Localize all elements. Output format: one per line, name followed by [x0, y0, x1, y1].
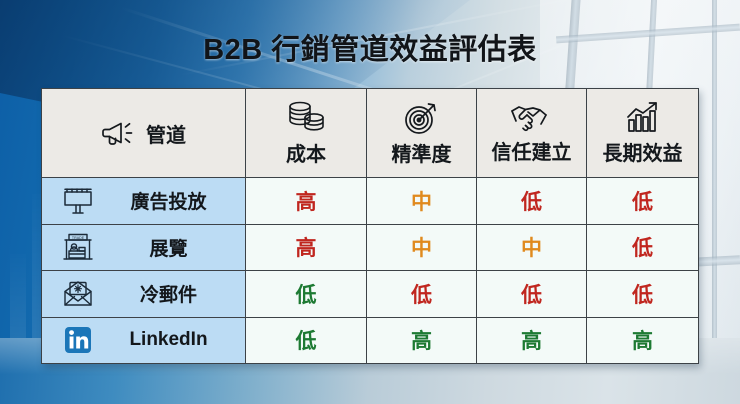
handshake-icon: [509, 102, 555, 134]
page-title: B2B 行銷管道效益評估表: [0, 26, 740, 68]
value-cell-precision: 高: [367, 317, 477, 364]
table-row: LinkedIn 低 高 高 高: [42, 317, 699, 364]
value-cell-cost: 低: [246, 271, 367, 318]
header-cell-precision: 精準度: [367, 89, 477, 178]
value-cell-longterm: 低: [587, 224, 699, 271]
target-icon: [403, 100, 441, 136]
value-cell-cost: 高: [246, 178, 367, 225]
header-label-longterm: 長期效益: [603, 137, 683, 166]
billboard-icon: [56, 186, 100, 216]
value-cell-precision: 低: [367, 271, 477, 318]
growth-chart-icon: [624, 101, 662, 135]
header-label-cost: 成本: [286, 138, 326, 167]
table-row: 冷郵件 低 低 低 低: [42, 271, 699, 318]
value-cell-trust: 低: [477, 271, 587, 318]
coins-icon: [285, 100, 327, 136]
header-label-precision: 精準度: [392, 138, 452, 167]
channel-cell-ads: 廣告投放: [42, 178, 246, 225]
channel-comparison-table: 管道: [41, 88, 699, 364]
channel-cell-tradeshow: TRADE 展覽: [42, 224, 246, 271]
channel-label: 展覽: [104, 234, 245, 261]
trade-booth-icon: TRADE: [56, 232, 100, 262]
linkedin-icon: [56, 325, 100, 355]
channel-cell-coldemail: 冷郵件: [42, 271, 246, 318]
header-cell-longterm: 長期效益: [587, 89, 699, 178]
header-label-trust: 信任建立: [492, 136, 572, 165]
value-cell-cost: 高: [246, 224, 367, 271]
value-cell-precision: 中: [367, 178, 477, 225]
value-cell-trust: 低: [477, 178, 587, 225]
channel-label: LinkedIn: [104, 329, 245, 351]
header-row: 管道: [42, 89, 699, 178]
table-header: 管道: [42, 89, 699, 178]
header-cell-trust: 信任建立: [477, 89, 587, 178]
megaphone-icon: [101, 118, 137, 148]
header-label-channel: 管道: [146, 119, 186, 148]
table-row: 廣告投放 高 中 低 低: [42, 178, 699, 225]
value-cell-precision: 中: [367, 224, 477, 271]
channel-label: 冷郵件: [104, 280, 245, 307]
channel-cell-linkedin: LinkedIn: [42, 317, 246, 364]
comparison-table-container: 管道: [41, 88, 698, 364]
value-cell-trust: 高: [477, 317, 587, 364]
value-cell-trust: 中: [477, 224, 587, 271]
value-cell-cost: 低: [246, 317, 367, 364]
value-cell-longterm: 低: [587, 271, 699, 318]
header-cell-channel: 管道: [42, 89, 246, 178]
cold-email-icon: [56, 279, 100, 309]
value-cell-longterm: 高: [587, 317, 699, 364]
value-cell-longterm: 低: [587, 178, 699, 225]
header-cell-cost: 成本: [246, 89, 367, 178]
svg-text:TRADE: TRADE: [72, 236, 85, 240]
table-body: 廣告投放 高 中 低 低 TRADE: [42, 178, 699, 364]
table-row: TRADE 展覽: [42, 224, 699, 271]
channel-label: 廣告投放: [104, 187, 245, 214]
